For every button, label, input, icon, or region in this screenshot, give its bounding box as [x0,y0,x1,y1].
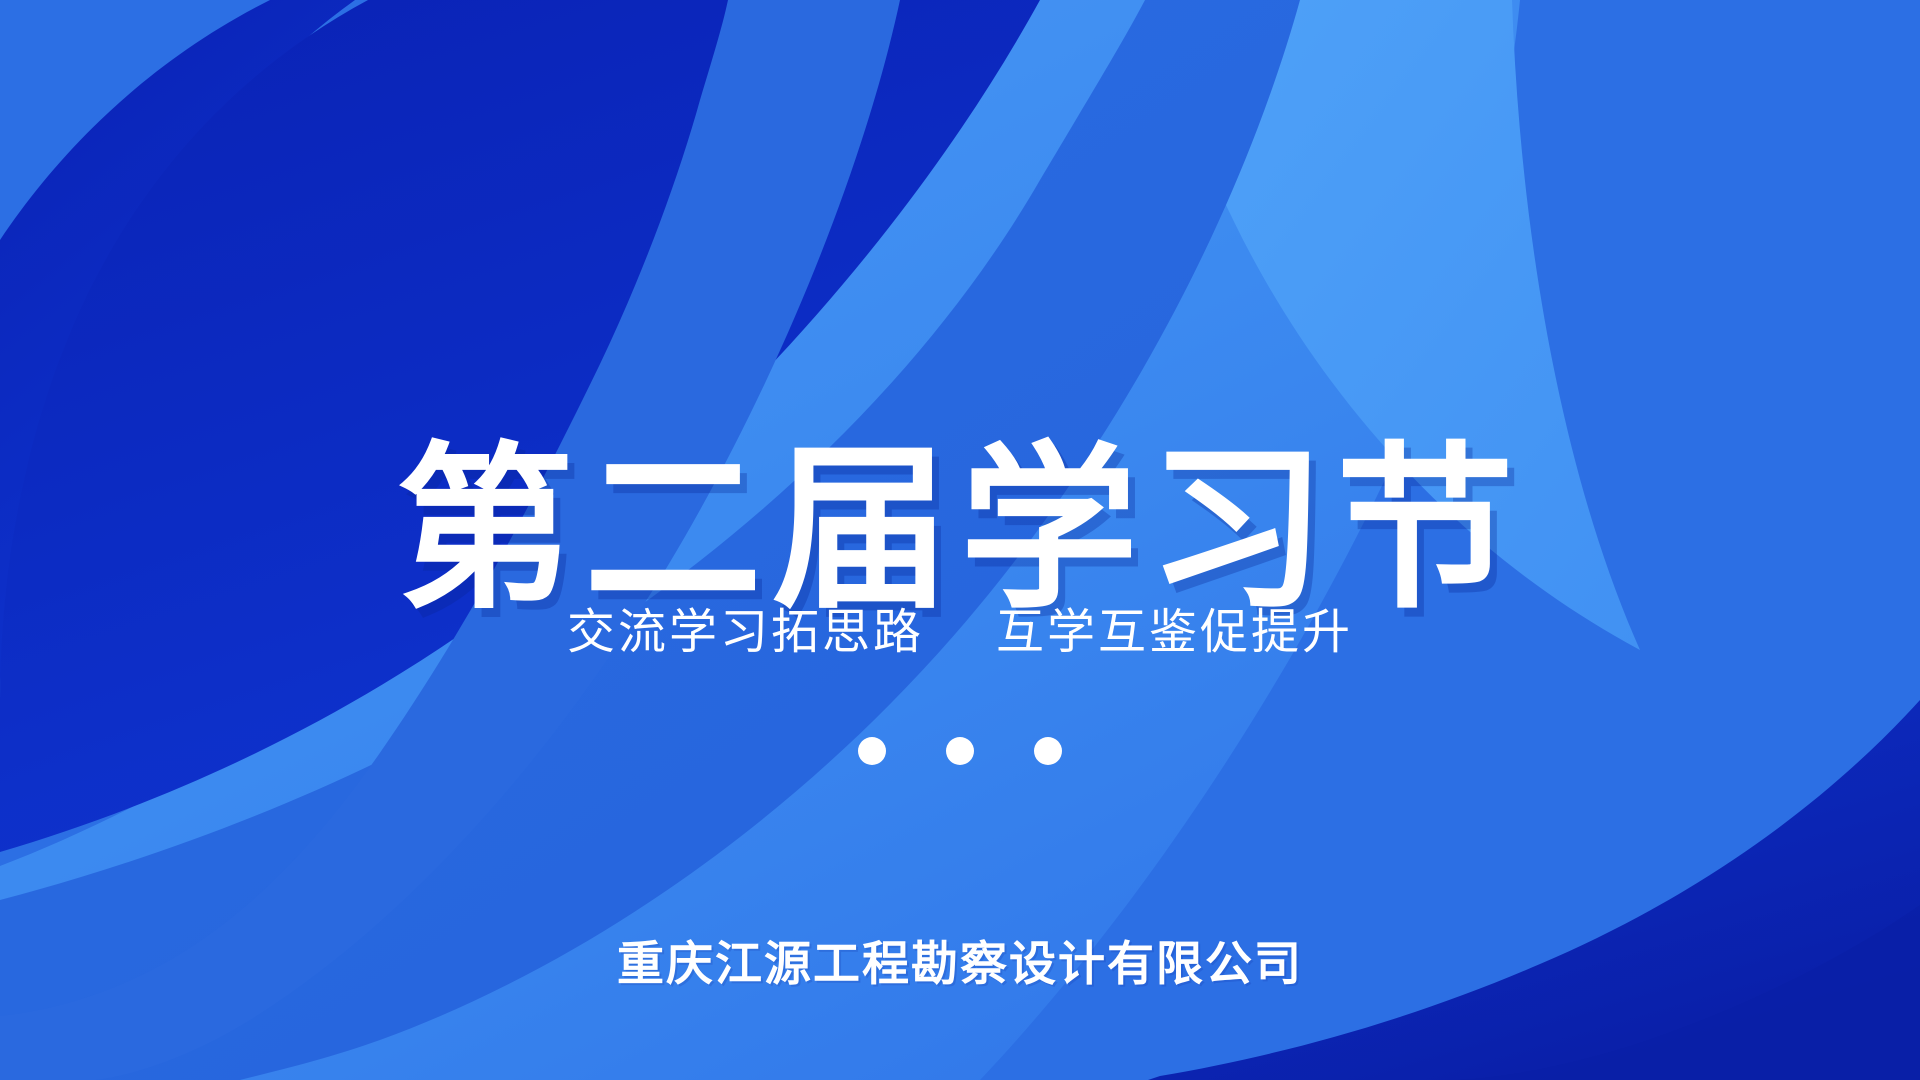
subtitle-left: 交流学习拓思路 [567,592,924,662]
divider-dot-icon [946,737,974,765]
divider-dots [0,737,1920,765]
poster-content: 第二届学习节 交流学习拓思路 互学互鉴促提升 重庆江源工程勘察设计有限公司 [0,0,1920,1080]
poster-canvas: 第二届学习节 交流学习拓思路 互学互鉴促提升 重庆江源工程勘察设计有限公司 [0,0,1920,1080]
company-name: 重庆江源工程勘察设计有限公司 [0,925,1920,994]
subtitle-right: 互学互鉴促提升 [996,592,1353,662]
divider-dot-icon [1034,737,1062,765]
divider-dot-icon [858,737,886,765]
subtitle: 交流学习拓思路 互学互鉴促提升 [0,592,1920,662]
